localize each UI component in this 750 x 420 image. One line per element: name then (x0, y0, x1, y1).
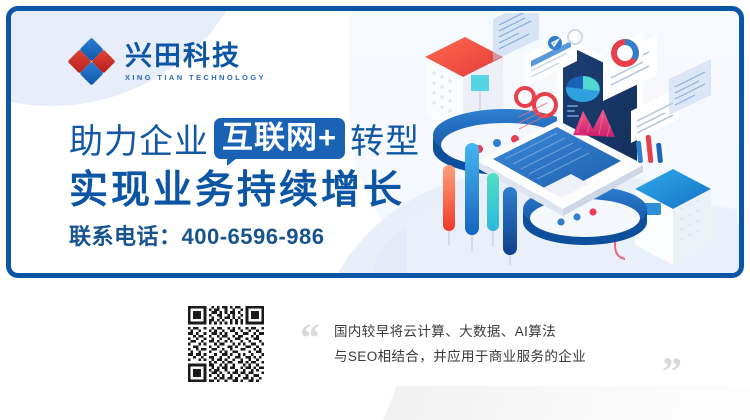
logo-chinese-name: 兴田科技 (125, 42, 266, 70)
promo-banner: 兴田科技 XING TIAN TECHNOLOGY 助力企业 互联网+ 转型 实… (0, 0, 750, 420)
quote-line-2: 与SEO相结合，并应用于商业服务的企业 (334, 345, 586, 370)
quote-text: 国内较早将云计算、大数据、AI算法 与SEO相结合，并应用于商业服务的企业 (334, 320, 586, 370)
logo-wordmark: 兴田科技 XING TIAN TECHNOLOGY (125, 42, 266, 82)
hero-frame-inner: 兴田科技 XING TIAN TECHNOLOGY 助力企业 互联网+ 转型 实… (11, 11, 739, 273)
isometric-cloud-computing-illustration (407, 13, 737, 273)
decorative-bottom-swoosh (383, 386, 750, 420)
quote-line-1: 国内较早将云计算、大数据、AI算法 (334, 320, 586, 345)
headline-line-2: 实现业务持续增长 (69, 159, 405, 215)
headline-prefix: 助力企业 (69, 114, 209, 163)
company-logo[interactable]: 兴田科技 XING TIAN TECHNOLOGY (69, 41, 266, 83)
headline-line-1: 助力企业 互联网+ 转型 (69, 114, 420, 163)
qr-code-icon[interactable] (188, 306, 264, 382)
quote-close-mark: ” (662, 352, 682, 392)
four-diamonds-logo-icon (69, 41, 115, 83)
headline-suffix: 转型 (350, 114, 420, 163)
quote-open-mark: “ (300, 318, 320, 358)
logo-english-name: XING TIAN TECHNOLOGY (125, 73, 266, 82)
contact-phone: 联系电话：400-6596-986 (69, 219, 325, 251)
hero-frame: 兴田科技 XING TIAN TECHNOLOGY 助力企业 互联网+ 转型 实… (6, 6, 744, 278)
pie-chart (566, 76, 600, 102)
internet-plus-badge: 互联网+ (214, 118, 345, 160)
